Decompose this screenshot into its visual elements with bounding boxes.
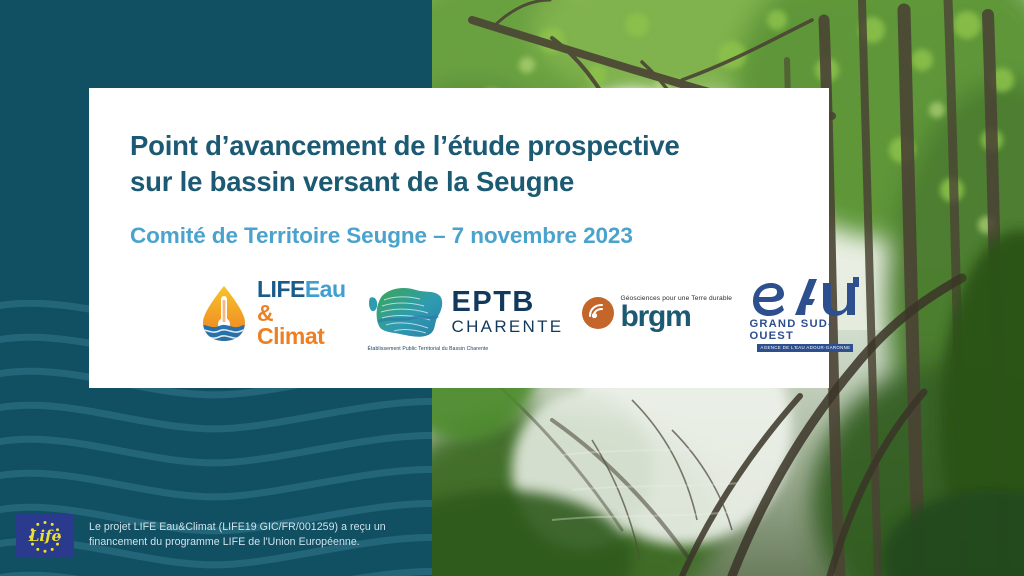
logo-brgm: Géosciences pour une Terre durable brgm — [581, 277, 731, 349]
life-eau-climat-wordmark: LIFEEau & Climat — [257, 278, 346, 348]
brgm-name: brgm — [620, 303, 732, 331]
brgm-wordmark: Géosciences pour une Terre durable brgm — [620, 295, 732, 331]
page-title-line-2: sur le bassin versant de la Seugne — [130, 164, 800, 200]
content-card: Point d’avancement de l’étude prospectiv… — [89, 88, 829, 388]
brgm-circle-icon — [581, 296, 615, 330]
page-subtitle: Comité de Territoire Seugne – 7 novembre… — [130, 222, 800, 249]
footer-text-line-1: Le projet LIFE Eau&Climat (LIFE19 GIC/FR… — [89, 520, 386, 535]
slide-root: Point d’avancement de l’étude prospectiv… — [0, 0, 1024, 576]
life-word: LIFE — [257, 276, 305, 302]
eptb-subtitle: Établissement Public Territorial du Bass… — [368, 346, 568, 352]
eptb-acronym: EPTB — [452, 288, 564, 317]
eau-word: Eau — [305, 276, 346, 302]
water-droplet-thermometer-icon — [197, 284, 251, 342]
eptb-wordmark: EPTB CHARENTE — [452, 288, 564, 337]
charente-basin-map-icon — [368, 282, 446, 344]
svg-text:Life: Life — [28, 527, 61, 545]
agence-eau-agency-name: AGENCE DE L'EAU ADOUR-GARONNE — [757, 344, 853, 352]
eu-life-logo: Life — [16, 514, 74, 557]
footer: Life Le projet LIFE Eau&Climat (LIFE19 G… — [16, 511, 446, 559]
logo-eptb-charente: EPTB CHARENTE Établissement Public Terri… — [368, 277, 564, 349]
climat-word: & Climat — [257, 302, 346, 348]
eau-wordmark-icon — [749, 277, 861, 317]
partner-logos-row: LIFEEau & Climat — [109, 272, 809, 354]
logo-life-eau-climat: LIFEEau & Climat — [197, 277, 346, 349]
page-title: Point d’avancement de l’étude prospectiv… — [130, 128, 800, 200]
footer-text-line-2: financement du programme LIFE de l'Union… — [89, 535, 386, 550]
agence-eau-region: GRAND SUD-OUEST — [749, 318, 861, 342]
page-title-line-1: Point d’avancement de l’étude prospectiv… — [130, 128, 800, 164]
footer-text: Le projet LIFE Eau&Climat (LIFE19 GIC/FR… — [89, 520, 386, 551]
logo-agence-eau-adour-garonne: GRAND SUD-OUEST AGENCE DE L'EAU ADOUR-GA… — [749, 277, 861, 349]
eptb-region: CHARENTE — [452, 317, 564, 337]
